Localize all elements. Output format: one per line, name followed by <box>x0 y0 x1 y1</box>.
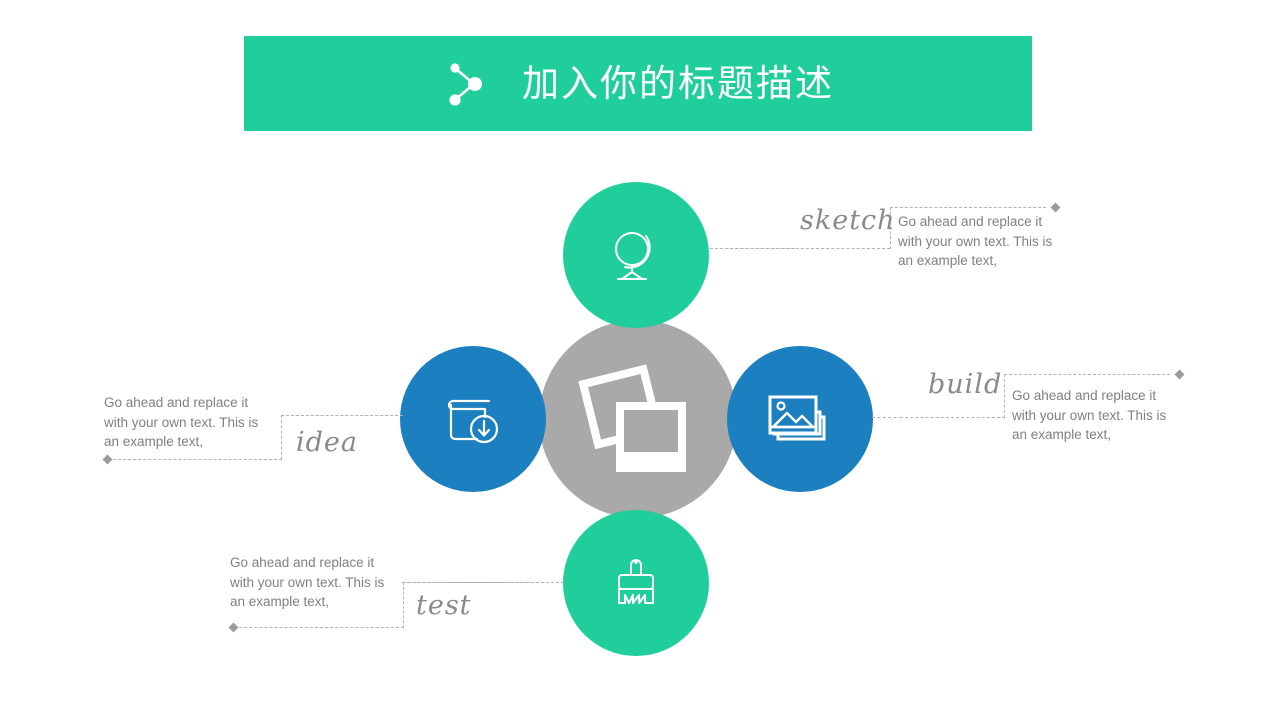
callout-test-dash-bottom <box>234 627 404 628</box>
connector-build <box>872 417 902 418</box>
callout-test-dash-top <box>403 582 533 583</box>
callout-sketch: sketch Go ahead and replace it with your… <box>700 195 1080 290</box>
callout-idea-diamond-marker <box>103 455 113 465</box>
page-title: 加入你的标题描述 <box>522 65 834 102</box>
book-download-icon <box>441 388 505 450</box>
callout-build-diamond-marker <box>1175 370 1185 380</box>
photo-stack-icon <box>768 389 832 449</box>
callout-build-label: build <box>928 369 1002 400</box>
callout-test-dash-right <box>403 582 404 628</box>
callout-idea-dash-right <box>281 415 282 460</box>
globe-icon <box>605 224 667 286</box>
callout-idea-dash-bottom <box>108 459 282 460</box>
callout-sketch-label: sketch <box>800 205 896 236</box>
callout-idea-dash-top <box>281 415 403 416</box>
callout-build-dash-top <box>1004 374 1170 375</box>
callout-test: Go ahead and replace it with your own te… <box>230 545 530 645</box>
callout-test-text: Go ahead and replace it with your own te… <box>230 553 398 612</box>
callout-sketch-dash-top <box>890 207 1046 208</box>
node-build[interactable] <box>727 346 873 492</box>
center-node[interactable] <box>539 320 737 518</box>
node-idea[interactable] <box>400 346 546 492</box>
callout-build: build Go ahead and replace it with your … <box>900 355 1190 450</box>
callout-test-label: test <box>416 590 472 621</box>
node-test[interactable] <box>563 510 709 656</box>
paint-brush-icon <box>605 551 667 615</box>
callout-idea-label: idea <box>296 427 358 458</box>
callout-idea: Go ahead and replace it with your own te… <box>104 385 404 485</box>
callout-idea-text: Go ahead and replace it with your own te… <box>104 393 272 452</box>
node-sketch[interactable] <box>563 182 709 328</box>
photo-frames-icon <box>576 364 700 474</box>
callout-sketch-diamond-marker <box>1051 203 1061 213</box>
callout-test-diamond-marker <box>229 623 239 633</box>
callout-build-text: Go ahead and replace it with your own te… <box>1012 386 1180 445</box>
share-network-icon <box>442 58 494 110</box>
callout-sketch-dash-bottom <box>730 248 890 249</box>
callout-sketch-text: Go ahead and replace it with your own te… <box>898 212 1066 271</box>
title-bar: 加入你的标题描述 <box>244 36 1032 131</box>
callout-build-dash-bottom <box>900 417 1005 418</box>
callout-build-dash-left <box>1004 374 1005 418</box>
